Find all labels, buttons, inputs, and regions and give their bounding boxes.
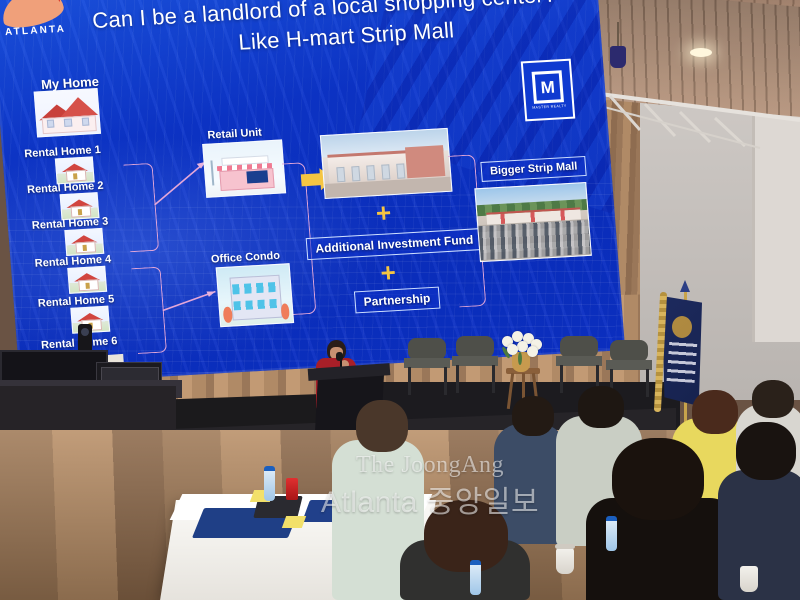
water-bottle: [606, 516, 617, 551]
glass-door-icon: [366, 165, 375, 180]
pendant-wire: [617, 22, 619, 48]
window-icon: [81, 118, 89, 127]
parked-cars: [478, 220, 590, 259]
soda-can: [286, 478, 298, 500]
water-bottle: [470, 560, 481, 595]
thumb-office-condo: [216, 263, 294, 327]
store-display-screen: [246, 170, 269, 183]
thumb-my-home: [34, 88, 101, 138]
glass-door-icon: [351, 166, 360, 181]
stage-chair: [404, 338, 450, 392]
glass-door-icon: [336, 167, 345, 182]
stage-chair: [452, 336, 498, 390]
label-partnership: Partnership: [354, 287, 440, 314]
downlight-icon: [690, 48, 712, 57]
pendant-light-icon: [610, 46, 626, 68]
water-bottle: [264, 466, 275, 501]
ceiling-truss: [600, 90, 800, 150]
plus-icon-2: +: [380, 259, 397, 286]
connector-arrow-condo: [159, 281, 224, 324]
strip-accent-wall: [405, 145, 445, 178]
glass-door-icon: [396, 164, 405, 179]
window-icon: [47, 120, 55, 129]
stage-chair: [606, 340, 652, 394]
thumb-retail-unit: [202, 139, 286, 197]
label-bigger-strip-mall: Bigger Strip Mall: [480, 156, 587, 182]
flag-emblem: [672, 316, 692, 338]
thumb-strip-mall: [320, 128, 453, 199]
screenshot-root: ATLANTA Can I be a landlord of a local s…: [0, 0, 800, 600]
flag-lettering: [667, 339, 698, 383]
stage-chair: [556, 336, 602, 390]
microphone-icon: [336, 352, 343, 361]
thumb-rental-4: [67, 266, 107, 294]
thumb-bigger-strip-mall: [474, 182, 592, 262]
plus-icon-1: +: [375, 199, 392, 226]
drink-cup: [556, 548, 574, 574]
cup-lid: [555, 544, 575, 549]
window-icon: [64, 119, 72, 128]
thumb-rental-3: [64, 228, 104, 256]
lamp-post-icon: [211, 160, 215, 185]
tree-icon: [280, 304, 290, 320]
tree-icon: [223, 307, 233, 323]
glass-door-icon: [381, 164, 390, 179]
drink-cup: [740, 566, 758, 592]
flower-arrangement: [498, 330, 544, 360]
slide-diagram: My Home Rental Home 1 Rent: [0, 0, 625, 385]
label-retail-unit: Retail Unit: [207, 127, 262, 142]
